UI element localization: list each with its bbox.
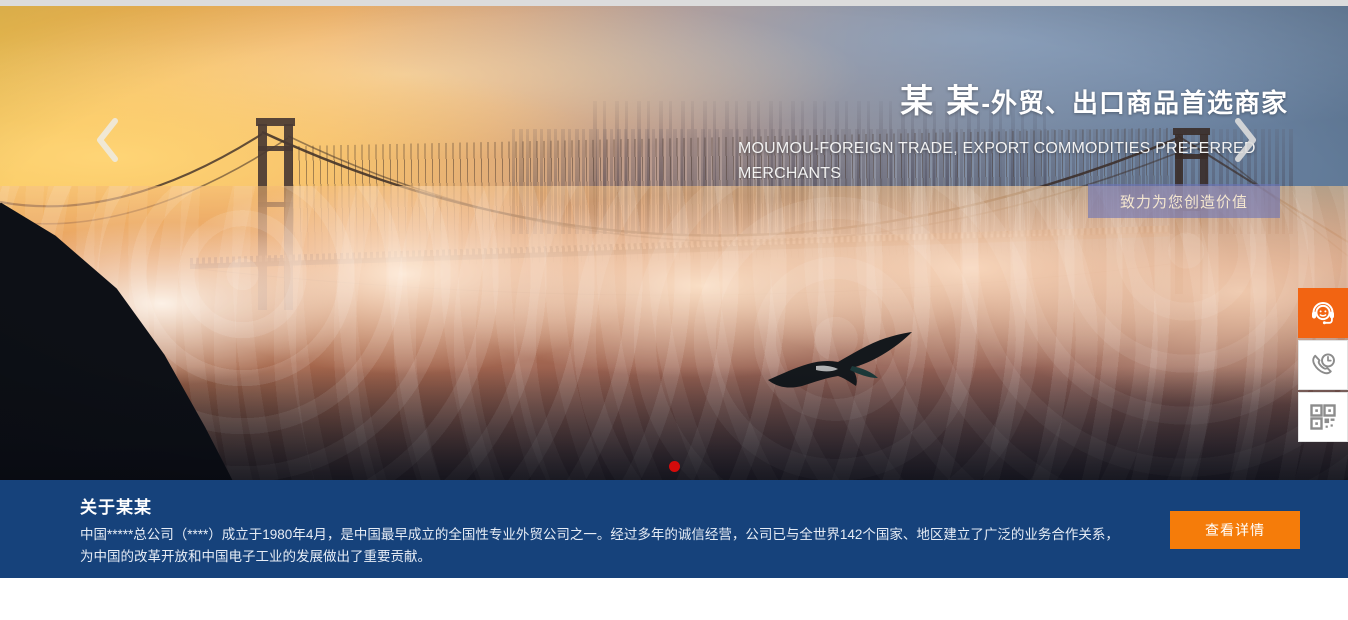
hero-vignette xyxy=(0,6,1348,480)
about-title: 关于某某 xyxy=(80,493,1348,518)
chevron-left-icon xyxy=(92,116,122,164)
hero-text-block: 某 某-外贸、出口商品首选商家 MOUMOU-FOREIGN TRADE, EX… xyxy=(738,84,1288,179)
chevron-right-icon xyxy=(1230,116,1260,164)
carousel-dot-1[interactable] xyxy=(669,461,680,472)
headset-customer-service-icon xyxy=(1309,299,1337,327)
floating-side-toolbar[interactable] xyxy=(1298,288,1348,444)
qr-code-button[interactable] xyxy=(1298,392,1348,442)
carousel-pagination[interactable] xyxy=(0,461,1348,472)
about-section: 关于某某 中国*****总公司（****）成立于1980年4月，是中国最早成立的… xyxy=(0,480,1348,578)
carousel-prev-button[interactable] xyxy=(84,109,130,171)
hero-subtitle: MOUMOU-FOREIGN TRADE, EXPORT COMMODITIES… xyxy=(738,137,1288,179)
carousel-next-button[interactable] xyxy=(1222,109,1268,171)
page-bottom-whitespace xyxy=(0,578,1348,620)
hero-title-main: 某 某 xyxy=(900,84,981,119)
phone-clock-callback-icon xyxy=(1309,351,1337,379)
about-description: 中国*****总公司（****）成立于1980年4月，是中国最早成立的全国性专业… xyxy=(80,524,1120,568)
callback-request-button[interactable] xyxy=(1298,340,1348,390)
hero-title: 某 某-外贸、出口商品首选商家 xyxy=(738,84,1288,117)
customer-service-button[interactable] xyxy=(1298,288,1348,338)
about-inner: 关于某某 中国*****总公司（****）成立于1980年4月，是中国最早成立的… xyxy=(0,480,1348,578)
view-details-button[interactable]: 查看详情 xyxy=(1170,511,1300,549)
hero-slogan-badge: 致力为您创造价值 xyxy=(1088,184,1280,218)
hero-carousel[interactable]: 某 某-外贸、出口商品首选商家 MOUMOU-FOREIGN TRADE, EX… xyxy=(0,6,1348,480)
qr-code-icon xyxy=(1309,403,1337,431)
